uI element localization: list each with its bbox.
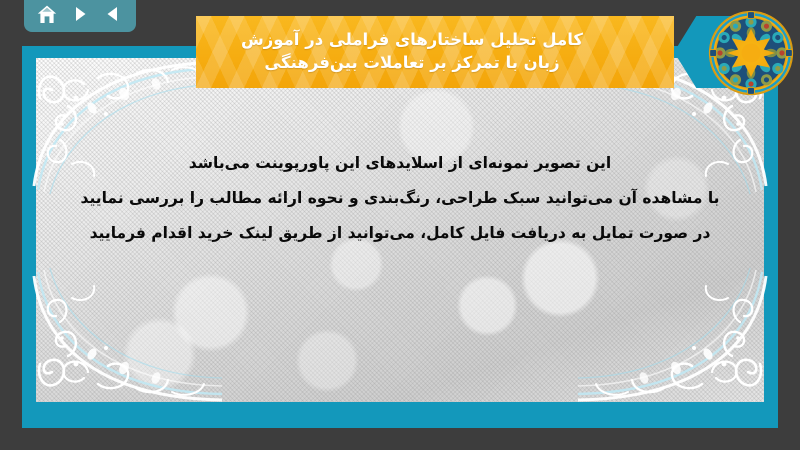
home-button[interactable] — [34, 2, 60, 26]
banner-body: کامل تحلیل ساختارهای فراملی در آموزش زبا… — [196, 16, 674, 88]
next-slide-button[interactable] — [67, 2, 93, 26]
slide-viewer: این تصویر نمونه‌ای از اسلایدهای این پاور… — [0, 0, 800, 450]
triangle-right-icon — [70, 4, 90, 24]
body-line: این تصویر نمونه‌ای از اسلایدهای این پاور… — [68, 146, 732, 181]
page-title: کامل تحلیل ساختارهای فراملی در آموزش — [241, 28, 583, 51]
slide-navigation-toolbar — [24, 0, 136, 32]
previous-slide-button[interactable] — [100, 2, 126, 26]
triangle-left-icon — [103, 4, 123, 24]
page-subtitle: زبان با تمرکز بر تعاملات بین‌فرهنگی — [264, 51, 559, 74]
slide-body-text: این تصویر نمونه‌ای از اسلایدهای این پاور… — [68, 146, 732, 251]
home-icon — [36, 4, 58, 25]
body-line: با مشاهده آن می‌توانید سبک طراحی، رنگ‌بن… — [68, 181, 732, 216]
slide-title-banner: کامل تحلیل ساختارهای فراملی در آموزش زبا… — [196, 16, 736, 88]
body-line: در صورت تمایل به دریافت فایل کامل، می‌تو… — [68, 216, 732, 251]
slide-canvas: این تصویر نمونه‌ای از اسلایدهای این پاور… — [22, 46, 778, 428]
mandala-medallion-icon — [708, 10, 794, 96]
